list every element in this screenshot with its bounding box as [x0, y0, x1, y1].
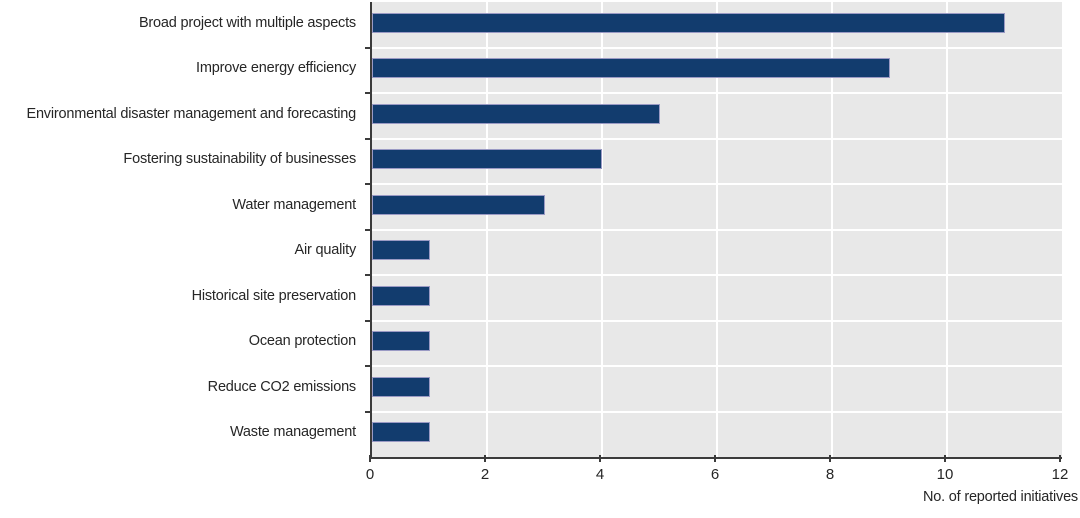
bar — [372, 13, 1005, 33]
y-axis-tick — [365, 365, 372, 367]
gridline-horizontal — [372, 92, 1062, 94]
y-axis-category-label: Broad project with multiple aspects — [0, 15, 356, 31]
x-axis-tick-label: 0 — [340, 466, 400, 484]
y-axis-category-label: Air quality — [0, 242, 356, 258]
y-axis-category-label: Improve energy efficiency — [0, 60, 356, 76]
x-axis-tick-label: 6 — [685, 466, 745, 484]
gridline-horizontal — [372, 365, 1062, 367]
y-axis-tick — [365, 274, 372, 276]
y-axis-category-label: Fostering sustainability of businesses — [0, 151, 356, 167]
x-axis-tick-label: 2 — [455, 466, 515, 484]
x-axis-title: No. of reported initiatives — [923, 489, 1078, 506]
x-axis-tick — [369, 455, 371, 462]
bar — [372, 331, 430, 351]
bar — [372, 240, 430, 260]
y-axis-category-label: Water management — [0, 197, 356, 213]
gridline-horizontal — [372, 229, 1062, 231]
x-axis-tick-label: 4 — [570, 466, 630, 484]
x-axis-tick-label: 10 — [915, 466, 975, 484]
y-axis-category-label: Waste management — [0, 424, 356, 440]
y-axis-tick — [365, 47, 372, 49]
bar-chart: Broad project with multiple aspectsImpro… — [0, 0, 1080, 518]
y-axis-category-label: Historical site preservation — [0, 288, 356, 304]
x-axis-tick — [829, 455, 831, 462]
y-axis-tick — [365, 138, 372, 140]
gridline-horizontal — [372, 183, 1062, 185]
bar — [372, 58, 890, 78]
bar — [372, 195, 545, 215]
y-axis-category-labels: Broad project with multiple aspectsImpro… — [0, 2, 364, 457]
gridline-horizontal — [372, 274, 1062, 276]
bar — [372, 422, 430, 442]
y-axis-category-label: Ocean protection — [0, 333, 356, 349]
bar — [372, 104, 660, 124]
bar — [372, 149, 602, 169]
y-axis-category-label: Reduce CO2 emissions — [0, 379, 356, 395]
x-axis-tick — [1059, 455, 1061, 462]
y-axis-tick — [365, 229, 372, 231]
y-axis-category-label: Environmental disaster management and fo… — [0, 106, 356, 122]
x-axis-tick — [599, 455, 601, 462]
x-axis-tick-label: 12 — [1030, 466, 1080, 484]
y-axis-tick — [365, 183, 372, 185]
bar — [372, 377, 430, 397]
gridline-horizontal — [372, 411, 1062, 413]
y-axis-tick — [365, 92, 372, 94]
gridline-horizontal — [372, 47, 1062, 49]
x-axis-tick — [714, 455, 716, 462]
y-axis-tick — [365, 411, 372, 413]
x-axis-tick — [944, 455, 946, 462]
gridline-horizontal — [372, 320, 1062, 322]
y-axis-tick — [365, 320, 372, 322]
plot-area — [370, 2, 1062, 459]
x-axis-tick-label: 8 — [800, 466, 860, 484]
gridline-horizontal — [372, 138, 1062, 140]
x-axis-tick — [484, 455, 486, 462]
bar — [372, 286, 430, 306]
